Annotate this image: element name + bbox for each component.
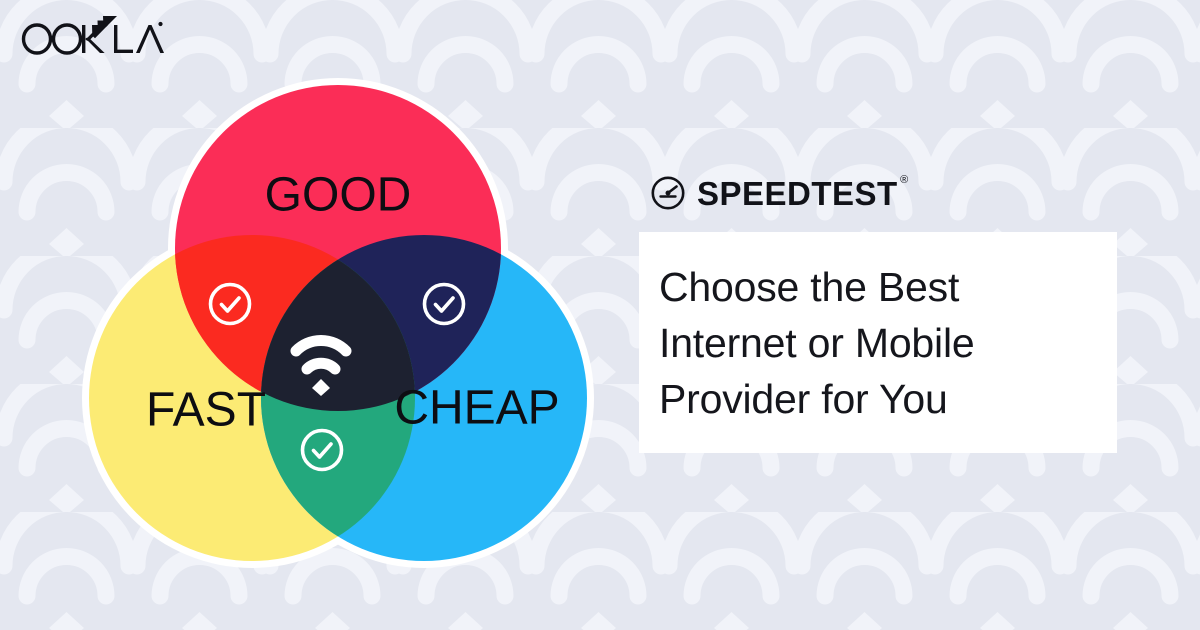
- headline-line-2: Internet or Mobile: [659, 316, 974, 372]
- headline-card: Choose the Best Internet or Mobile Provi…: [639, 232, 1117, 453]
- page-title: Choose the Best Internet or Mobile Provi…: [659, 260, 974, 427]
- venn-label-fast: FAST: [146, 384, 266, 437]
- speedometer-icon: [651, 176, 685, 210]
- speedtest-logo: SPEEDTEST ®: [651, 170, 1119, 216]
- venn-diagram: GOOD FAST CHEAP: [52, 58, 612, 570]
- headline-line-1: Choose the Best: [659, 260, 974, 316]
- headline-line-3: Provider for You: [659, 372, 974, 428]
- right-content-column: SPEEDTEST ® Choose the Best Internet or …: [639, 170, 1119, 453]
- venn-label-good: GOOD: [265, 169, 412, 222]
- speedtest-registered-mark: ®: [900, 175, 909, 186]
- infographic-canvas: GOOD FAST CHEAP: [0, 0, 1200, 630]
- speedtest-wordmark-text: SPEEDTEST: [697, 175, 898, 212]
- speedtest-wordmark: SPEEDTEST ®: [697, 177, 898, 210]
- ookla-logo-icon: [16, 16, 166, 60]
- venn-label-cheap: CHEAP: [394, 382, 559, 435]
